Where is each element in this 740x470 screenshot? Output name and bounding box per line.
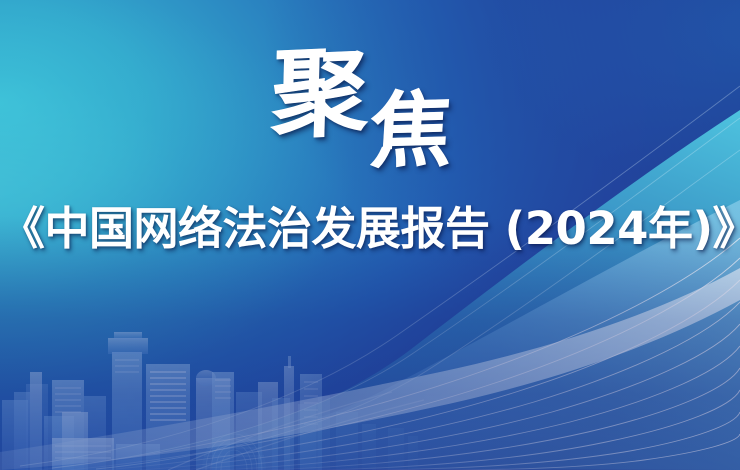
calligraphy-block: 聚 焦	[262, 40, 472, 185]
report-title-container: 《中国网络法治发展报告 (2024年)》	[0, 204, 740, 254]
calligraphy-char-ju: 聚	[271, 44, 370, 144]
calligraphy-char-jiao: 焦	[367, 89, 454, 173]
news-banner-image: 聚 焦 《中国网络法治发展报告 (2024年)》	[0, 0, 740, 470]
report-title-text: 《中国网络法治发展报告 (2024年)》	[0, 204, 740, 254]
